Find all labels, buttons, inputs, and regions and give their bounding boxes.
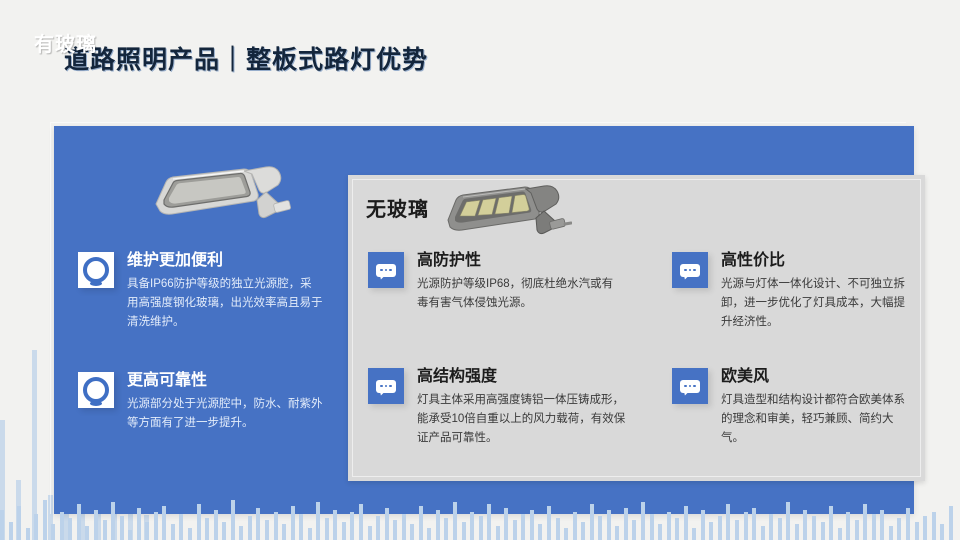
left-section-heading: 有玻璃: [34, 28, 97, 57]
street-lamp-no-glass-image: [442, 176, 572, 258]
feature-text: 光源与灯体一体化设计、不可独立拆卸，进一步优化了灯具成本，大幅提升经济性。: [721, 275, 910, 332]
chat-bubble-icon: [672, 368, 708, 404]
chat-bubble-icon: [368, 368, 404, 404]
feature-title: 高性价比: [721, 252, 910, 270]
feature-text: 光源部分处于光源腔中，防水、耐紫外等方面有了进一步提升。: [127, 395, 323, 433]
location-ring-icon: [78, 252, 114, 288]
street-lamp-with-glass-image: [148, 152, 293, 247]
feature-title: 欧美风: [721, 368, 910, 386]
feature-title: 高防护性: [417, 252, 618, 270]
feature-text: 灯具主体采用高强度铸铝一体压铸成形，能承受10倍自重以上的风力载荷，有效保证产品…: [417, 391, 633, 448]
feature-strength: 高结构强度 灯具主体采用高强度铸铝一体压铸成形，能承受10倍自重以上的风力载荷，…: [368, 368, 633, 448]
feature-reliability: 更高可靠性 光源部分处于光源腔中，防水、耐紫外等方面有了进一步提升。: [78, 372, 323, 433]
page-title: 道路照明产品｜整板式路灯优势: [64, 40, 428, 76]
chat-bubble-icon: [368, 252, 404, 288]
feature-title: 高结构强度: [417, 368, 633, 386]
location-ring-icon: [78, 372, 114, 408]
chat-bubble-icon: [672, 252, 708, 288]
feature-value: 高性价比 光源与灯体一体化设计、不可独立拆卸，进一步优化了灯具成本，大幅提升经济…: [672, 252, 910, 332]
feature-text: 具备IP66防护等级的独立光源腔，采用高强度钢化玻璃，出光效率高且易于清洗维护。: [127, 275, 323, 332]
feature-protection: 高防护性 光源防护等级IP68，彻底杜绝水汽或有毒有害气体侵蚀光源。: [368, 252, 618, 313]
feature-title: 更高可靠性: [127, 372, 323, 390]
right-section-heading: 无玻璃: [366, 193, 429, 222]
feature-title: 维护更加便利: [127, 252, 323, 270]
feature-maintenance: 维护更加便利 具备IP66防护等级的独立光源腔，采用高强度钢化玻璃，出光效率高且…: [78, 252, 323, 332]
feature-text: 灯具造型和结构设计都符合欧美体系的理念和审美，轻巧兼顾、简约大气。: [721, 391, 910, 448]
feature-style: 欧美风 灯具造型和结构设计都符合欧美体系的理念和审美，轻巧兼顾、简约大气。: [672, 368, 910, 448]
feature-text: 光源防护等级IP68，彻底杜绝水汽或有毒有害气体侵蚀光源。: [417, 275, 618, 313]
